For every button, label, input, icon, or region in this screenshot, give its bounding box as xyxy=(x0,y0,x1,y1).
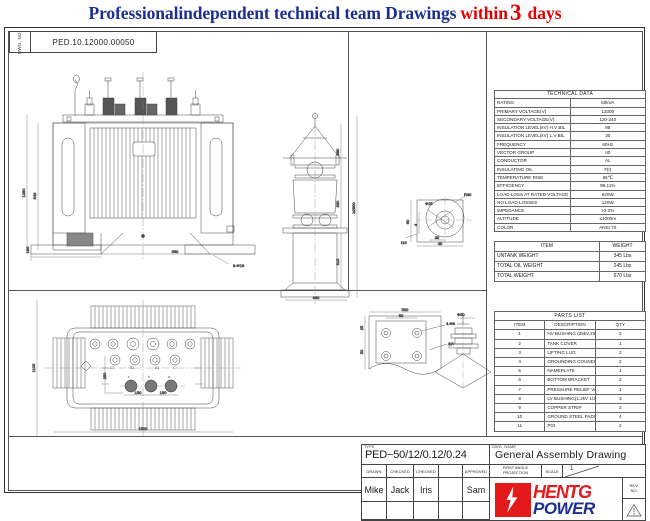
dim-plan-pitch1: 150 xyxy=(135,390,142,395)
part-description: PRESSURE RELIEF VALVE xyxy=(545,385,595,394)
part-description: BOTTOM BRACKET xyxy=(545,376,595,385)
tech-value: 12000 xyxy=(570,107,646,115)
drawn-label: DRAWN xyxy=(362,465,387,477)
banner-red-number: 3 xyxy=(510,0,522,26)
tech-value: 99.11% xyxy=(570,182,646,190)
parts-list-body: PARTS LIST ITEM DESCRIPTION QTY 1HV BUSH… xyxy=(495,312,646,432)
scale-slash-icon xyxy=(563,465,645,478)
table-row: INSULATING OIL#(I) xyxy=(495,165,646,173)
parts-header-qty: QTY xyxy=(595,321,645,330)
table-row: 5NAMEPLATE1 xyxy=(495,367,646,376)
technical-data-title-row: TECHNICAL DATA xyxy=(495,91,646,99)
table-row: 3LIFTING LUG2 xyxy=(495,348,646,357)
dim-lug-offset: 30 xyxy=(435,235,440,240)
dim-front-height: 1280 xyxy=(21,188,26,198)
revision-cell: REV. NO. xyxy=(623,478,645,521)
tech-value: 60Hz xyxy=(570,140,646,148)
hentg-power-logo: HENTG POWER xyxy=(495,483,595,517)
svg-text:c: c xyxy=(128,375,130,379)
plan-view: 1106 1520 250 150 150 C1B1 A1C cba xyxy=(31,300,241,436)
type-row: TYPE PED−50/12/0.12/0.24 xyxy=(362,445,489,465)
table-row: NO LOAD LOSSES120W xyxy=(495,198,646,206)
tech-value: 65℃ xyxy=(570,173,646,181)
table-row: TOTAL OIL WEIGHT245 Lbs xyxy=(495,262,646,272)
parts-list-table: PARTS LIST ITEM DESCRIPTION QTY 1HV BUSH… xyxy=(494,311,646,432)
part-item: 4 xyxy=(495,358,545,367)
table-row: 4GROUNDING COUNECTOR2 xyxy=(495,358,646,367)
scale-value-cell: 1 xyxy=(563,465,645,477)
signature-header-row: DRAWN CHECKED CHECKED APPROVED xyxy=(362,465,489,478)
table-row: VECTOR GROUPII0 xyxy=(495,149,646,157)
tech-label: CONDUCTOR xyxy=(495,157,571,165)
parts-list-title-row: PARTS LIST xyxy=(495,312,646,321)
projection-line2: PROJECTION xyxy=(503,471,528,476)
table-row: TEMPERATURE RISE65℃ xyxy=(495,173,646,181)
table-row: ALTITUDE≤1000m xyxy=(495,215,646,223)
dim-lug-height: 60 xyxy=(405,219,410,224)
warning-triangle-icon xyxy=(626,503,642,517)
dim-front-base: 196 xyxy=(25,246,30,253)
tech-value: 30 xyxy=(570,132,646,140)
part-description: GROUNDING COUNECTOR xyxy=(545,358,595,367)
signature-empty-row xyxy=(362,502,489,520)
dim-plan-offset: 250 xyxy=(102,372,107,379)
dim-side-base: 915 xyxy=(335,258,340,265)
part-item: 8 xyxy=(495,394,545,403)
table-row: EFFICIENCY99.11% xyxy=(495,182,646,190)
table-row: LOAD LOSS AT RATED VOLTAGE620W xyxy=(495,190,646,198)
part-qty: 2 xyxy=(595,376,645,385)
parts-header-row: ITEM DESCRIPTION QTY xyxy=(495,321,646,330)
side-mounting-view: ≥2900 980 830 915 660 xyxy=(281,112,357,304)
tech-value: >2.3% xyxy=(570,207,646,215)
tech-value: 120W xyxy=(570,198,646,206)
dim-bushing-dia: Φ50 xyxy=(457,312,465,317)
logo-row: HENTG POWER REV. NO. xyxy=(490,478,645,521)
part-description: POI xyxy=(545,422,595,431)
title-block-left: TYPE PED−50/12/0.12/0.24 DRAWN CHECKED C… xyxy=(362,445,490,520)
blank-label xyxy=(439,465,463,477)
tech-label: IMPEDANCE xyxy=(495,207,571,215)
projection-row: FIRST ANGLE PROJECTION SCALE 1 xyxy=(490,465,645,478)
empty-cell-3 xyxy=(414,502,439,519)
table-row: 8LV BUSHING(1.2kV 1/2 )3 xyxy=(495,394,646,403)
tech-value: 620W xyxy=(570,190,646,198)
weight-header-weight: WEIGHT xyxy=(600,242,646,252)
technical-data-body: TECHNICAL DATA RATING50kVA PRIMARY VOLTA… xyxy=(495,91,646,232)
tech-value: 120-240 xyxy=(570,115,646,123)
table-row: FREQUENCY60Hz xyxy=(495,140,646,148)
banner-blue-text: Professionalindependent technical team D… xyxy=(88,3,456,24)
tech-value: 50kVA xyxy=(570,99,646,107)
drawing-sheet: DWG. NO. PED.10.12000.00050 xyxy=(4,27,645,493)
part-description: LIFTING LUG xyxy=(545,348,595,357)
weight-value: 245 Lbs xyxy=(600,262,646,272)
svg-text:A1: A1 xyxy=(155,366,159,370)
tech-label: ALTITUDE xyxy=(495,215,571,223)
tech-value: II0 xyxy=(570,149,646,157)
part-description: COPPER STRIP xyxy=(545,404,595,413)
weight-value: 345 Lbs xyxy=(600,252,646,262)
dim-front-tank-height: 843 xyxy=(32,192,37,199)
empty-cell-4 xyxy=(439,502,463,519)
part-item: 11 xyxy=(495,422,545,431)
part-qty: 2 xyxy=(595,348,645,357)
weight-item: TOTAL OIL WEIGHT xyxy=(495,262,600,272)
weight-header-row: ITEM WEIGHT xyxy=(495,242,646,252)
table-row: TOTAL WEIGHT670 Lbs xyxy=(495,272,646,282)
dim-lug-radius: R30 xyxy=(464,192,472,197)
table-row: COLORANSI 70 xyxy=(495,223,646,231)
checked1-label: CHECKED xyxy=(387,465,414,477)
svg-text:C1: C1 xyxy=(110,366,115,370)
dim-side-width: 660 xyxy=(313,295,320,300)
table-row: IMPEDANCE>2.3% xyxy=(495,207,646,215)
lifting-lug-detail: 60 d 40 30 Φ25 R30 t16 xyxy=(401,192,473,246)
part-item: 9 xyxy=(495,404,545,413)
banner-red-text: within xyxy=(460,3,508,24)
part-description: NAMEPLATE xyxy=(545,367,595,376)
checked2-label: CHECKED xyxy=(414,465,439,477)
dim-lug-d: d xyxy=(413,224,418,226)
revision-label: REV. NO. xyxy=(623,478,645,499)
parts-header-item: ITEM xyxy=(495,321,545,330)
technical-data-title: TECHNICAL DATA xyxy=(495,91,646,99)
revision-symbol-cell xyxy=(623,499,645,521)
weight-item: TOTAL WEIGHT xyxy=(495,272,600,282)
part-item: 1 xyxy=(495,330,545,339)
table-row: 1HV BUSHING (25kV,25A)2 xyxy=(495,330,646,339)
empty-cell-1 xyxy=(362,502,387,519)
weight-table: ITEM WEIGHT UNTANK WEIGHT345 Lbs TOTAL O… xyxy=(494,241,646,282)
logo-bottom-text: POWER xyxy=(533,500,595,517)
dwg-name-row: DWG. NAME General Assembly Drawing xyxy=(490,445,645,465)
logo-wordmark: HENTG POWER xyxy=(533,483,595,517)
dim-bracket-h1: 25 xyxy=(359,325,364,330)
tech-label: TEMPERATURE RISE xyxy=(495,173,571,181)
bottom-bracket-detail: 500 50 25 50 4-Φ9 4(4 xyxy=(359,307,456,374)
part-description: HV BUSHING (25kV,25A) xyxy=(545,330,595,339)
dim-side-mid: 830 xyxy=(335,200,340,207)
parts-list-title: PARTS LIST xyxy=(495,312,646,321)
empty-cell-5 xyxy=(463,502,489,519)
part-qty: 2 xyxy=(595,422,645,431)
table-row: RATING50kVA xyxy=(495,99,646,107)
svg-text:b: b xyxy=(148,375,150,379)
dim-bracket-holes: 4-Φ9 xyxy=(446,321,456,326)
dwg-name-value: General Assembly Drawing xyxy=(495,449,626,461)
svg-text:B1: B1 xyxy=(130,366,134,370)
first-angle-projection-cell: FIRST ANGLE PROJECTION xyxy=(490,465,542,477)
part-qty: 1 xyxy=(595,385,645,394)
table-row: SECONDARY VOLTAGE(V)120-240 xyxy=(495,115,646,123)
part-item: 2 xyxy=(495,339,545,348)
type-value: PED−50/12/0.12/0.24 xyxy=(365,449,467,461)
table-row: 6BOTTOM BRACKET2 xyxy=(495,376,646,385)
table-row: 2TANK COVER1 xyxy=(495,339,646,348)
lightning-bolt-icon xyxy=(495,483,531,517)
parts-header-description: DESCRIPTION xyxy=(545,321,595,330)
part-item: 7 xyxy=(495,385,545,394)
tech-label: VECTOR GROUP xyxy=(495,149,571,157)
approved-label: APPROVED xyxy=(463,465,489,477)
dim-lug-width: 40 xyxy=(438,241,443,246)
bushing-detail: Φ50 xyxy=(435,312,491,392)
dim-side-top: 980 xyxy=(335,148,340,155)
signature-value-row: Mike Jack Iris Sam xyxy=(362,478,489,502)
scale-label: SCALE xyxy=(542,465,563,477)
table-row: INSULATION LEVEL(kV) L.V BIL30 xyxy=(495,132,646,140)
tech-label: COLOR xyxy=(495,223,571,231)
tech-label: RATING xyxy=(495,99,571,107)
dim-plan-width: 1520 xyxy=(139,426,149,431)
title-block: TYPE PED−50/12/0.12/0.24 DRAWN CHECKED C… xyxy=(361,444,646,521)
tech-value: ANSI 70 xyxy=(570,223,646,231)
revision-line2: NO. xyxy=(630,488,637,493)
part-item: 5 xyxy=(495,367,545,376)
technical-data-table: TECHNICAL DATA RATING50kVA PRIMARY VOLTA… xyxy=(494,90,646,232)
page-banner: Professionalindependent technical team D… xyxy=(0,0,650,26)
dim-side-total: ≥2900 xyxy=(351,202,356,214)
tech-value: 95 xyxy=(570,124,646,132)
dim-bracket-width: 500 xyxy=(402,307,409,312)
tech-label: FREQUENCY xyxy=(495,140,571,148)
table-row: PRIMARY VOLTAGE(V)12000 xyxy=(495,107,646,115)
tech-label: PRIMARY VOLTAGE(V) xyxy=(495,107,571,115)
tech-label: EFFICIENCY xyxy=(495,182,571,190)
scale-value: 1 xyxy=(570,466,573,472)
dim-bracket-h2: 50 xyxy=(359,349,364,354)
part-qty: 2 xyxy=(595,404,645,413)
table-row: UNTANK WEIGHT345 Lbs xyxy=(495,252,646,262)
tech-label: LOAD LOSS AT RATED VOLTAGE xyxy=(495,190,571,198)
tech-value: AL xyxy=(570,157,646,165)
weight-value: 670 Lbs xyxy=(600,272,646,282)
part-description: TANK COVER xyxy=(545,339,595,348)
weight-header-item: ITEM xyxy=(495,242,600,252)
company-logo-cell: HENTG POWER xyxy=(490,478,623,521)
part-description: GROUND STEEL PADS (TTC2) xyxy=(545,413,595,422)
table-row: 7PRESSURE RELIEF VALVE1 xyxy=(495,385,646,394)
dim-plan-depth: 1106 xyxy=(31,363,36,372)
weight-item: UNTANK WEIGHT xyxy=(495,252,600,262)
title-block-right: DWG. NAME General Assembly Drawing FIRST… xyxy=(490,445,645,520)
table-row: CONDUCTORAL xyxy=(495,157,646,165)
tech-value: #(I) xyxy=(570,165,646,173)
dim-lug-thick: t16 xyxy=(401,240,407,245)
part-qty: 2 xyxy=(595,330,645,339)
part-qty: 1 xyxy=(595,339,645,348)
part-qty: 2 xyxy=(595,358,645,367)
weight-table-body: ITEM WEIGHT UNTANK WEIGHT345 Lbs TOTAL O… xyxy=(495,242,646,282)
tech-label: NO LOAD LOSSES xyxy=(495,198,571,206)
table-row: 10GROUND STEEL PADS (TTC2)4 xyxy=(495,413,646,422)
dim-front-holes: 6-Φ19 xyxy=(233,263,245,268)
part-item: 10 xyxy=(495,413,545,422)
table-row: 9COPPER STRIP2 xyxy=(495,404,646,413)
table-row: 11POI2 xyxy=(495,422,646,431)
tech-label: INSULATING OIL xyxy=(495,165,571,173)
part-qty: 3 xyxy=(595,394,645,403)
tech-label: INSULATION LEVEL(kV) L.V BIL xyxy=(495,132,571,140)
tech-label: SECONDARY VOLTAGE(V) xyxy=(495,115,571,123)
part-qty: 1 xyxy=(595,367,645,376)
dim-plan-pitch2: 150 xyxy=(160,390,167,395)
banner-red-tail: days xyxy=(527,3,561,24)
dim-front-width: 660 xyxy=(172,249,179,254)
dim-lug-hole: Φ25 xyxy=(425,201,433,206)
front-elevation-view: 1280 843 660 6-Φ19 196 xyxy=(21,72,255,268)
part-item: 6 xyxy=(495,376,545,385)
svg-text:a: a xyxy=(168,375,170,379)
tech-value: ≤1000m xyxy=(570,215,646,223)
part-item: 3 xyxy=(495,348,545,357)
tech-label: INSULATION LEVEL(kV) H.V BIL xyxy=(495,124,571,132)
empty-cell-2 xyxy=(387,502,414,519)
part-description: LV BUSHING(1.2kV 1/2 ) xyxy=(545,394,595,403)
dim-bracket-pitch: 50 xyxy=(399,313,404,318)
table-row: INSULATION LEVEL(kV) H.V BIL95 xyxy=(495,124,646,132)
part-qty: 4 xyxy=(595,413,645,422)
